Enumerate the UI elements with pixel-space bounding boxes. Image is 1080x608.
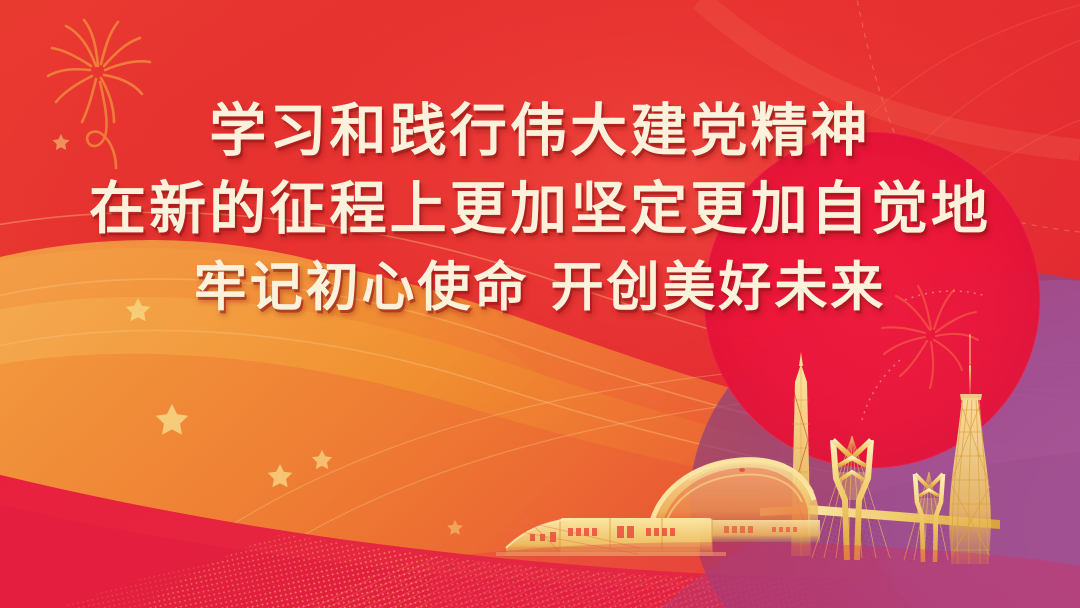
poster-canvas: 学习和践行伟大建党精神 在新的征程上更加坚定更加自觉地 牢记初心使命 开创美好未… [0, 0, 1080, 608]
background-artwork [0, 0, 1080, 608]
